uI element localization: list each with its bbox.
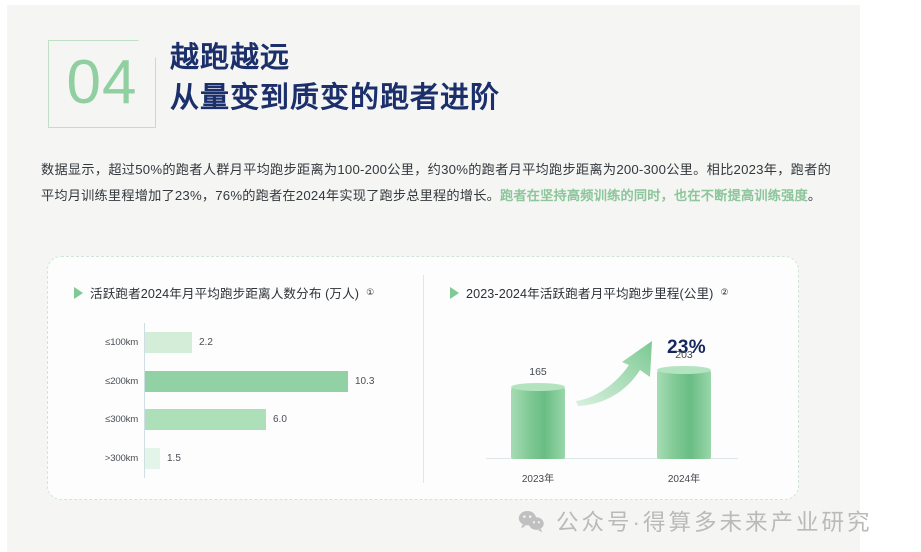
right-panel-footnote-marker: ② [720,287,728,298]
bar-value-label: 6.0 [273,414,287,425]
charts-card: 活跃跑者2024年月平均跑步距离人数分布 (万人) ① ≤100km 2.2 ≤… [47,256,799,500]
bar-category-label: ≤200km [74,376,138,387]
section-paragraph: 数据显示，超过50%的跑者人群月平均跑步距离为100-200公里，约30%的跑者… [41,157,831,208]
section-number-badge: 04 [48,40,156,128]
bar-category-label: >300km [74,453,138,464]
triangle-bullet-icon [74,287,83,299]
bar-value-label: 2.2 [199,337,213,348]
bar-value-label: 1.5 [167,453,181,464]
watermark-text: 公众号·得算多未来产业研究 [556,505,873,537]
right-chart-panel: 2023-2024年活跃跑者月平均跑步里程(公里) ② [424,257,799,501]
column-category-label: 2023年 [498,470,578,485]
section-title-line-2: 从量变到质变的跑者进阶 [170,78,500,118]
horizontal-bar-chart: ≤100km 2.2 ≤200km 10.3 ≤300km 6.0 >300km [74,323,404,478]
column-value-label: 165 [498,366,578,378]
triangle-bullet-icon [450,287,459,299]
bar-rect [145,409,266,430]
table-row: ≤100km 2.2 [74,323,404,362]
column-category-label: 2024年 [644,470,724,485]
watermark: 公众号·得算多未来产业研究 [518,505,873,537]
right-panel-title: 2023-2024年活跃跑者月平均跑步里程(公里) ② [450,283,729,302]
section-title-line-1: 越跑越远 [170,38,500,78]
column-value-label: 203 [644,349,724,361]
left-panel-title: 活跃跑者2024年月平均跑步距离人数分布 (万人) ① [74,283,374,302]
left-panel-footnote-marker: ① [366,287,374,298]
right-panel-title-text: 2023-2024年活跃跑者月平均跑步里程(公里) [466,283,713,302]
paragraph-highlight: 跑者在坚持高频训练的同时，也在不断提高训练强度 [500,188,808,203]
bar-category-label: ≤300km [74,414,138,425]
bar-rect [145,332,192,353]
paragraph-text-part-2: 。 [808,188,821,203]
table-row: ≤300km 6.0 [74,401,404,440]
section-header: 04 越跑越远 从量变到质变的跑者进阶 [48,38,748,130]
column-bar [511,387,565,459]
left-chart-panel: 活跃跑者2024年月平均跑步距离人数分布 (万人) ① ≤100km 2.2 ≤… [48,257,423,501]
bar-value-label: 10.3 [355,376,374,387]
wechat-icon [518,510,545,533]
table-row: >300km 1.5 [74,439,404,478]
bar-category-label: ≤100km [74,337,138,348]
left-panel-title-text: 活跃跑者2024年月平均跑步距离人数分布 (万人) [90,283,359,302]
bar-rect [145,371,348,392]
column-bar [657,370,711,459]
table-row: ≤200km 10.3 [74,362,404,401]
column-chart: 23% 165 2023年 203 2024年 [434,319,789,487]
slide-page: 04 越跑越远 从量变到质变的跑者进阶 数据显示，超过50%的跑者人群月平均跑步… [0,0,921,552]
bar-rect [145,448,160,469]
section-number: 04 [49,52,155,114]
section-title-block: 越跑越远 从量变到质变的跑者进阶 [170,38,500,118]
